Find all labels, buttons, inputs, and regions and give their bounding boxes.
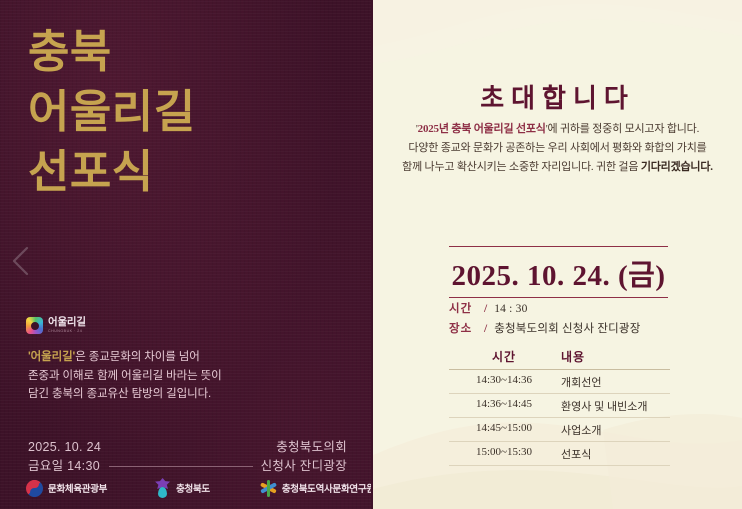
meta-value-time: 14 : 30 xyxy=(494,300,527,320)
schedule-content-2: 환영사 및 내빈소개 xyxy=(559,398,670,414)
poster-description: '어울리길'은 종교문화의 차이를 넘어 존중과 이해로 함께 어울리길 바라는… xyxy=(28,348,222,404)
meta-label-place: 장소 xyxy=(449,320,475,340)
organization-name-1: 문화체육관광부 xyxy=(48,481,107,495)
brand-name: 어울리길 xyxy=(48,317,86,328)
brand-subtitle: CHUNGBUK · 24 xyxy=(48,329,86,333)
organization-institute: 충청북도역사문화연구원 xyxy=(260,480,371,497)
table-row: 15:00~15:30 선포식 xyxy=(449,442,670,466)
invite-event-name: 2025년 충북 어울리길 선포식 xyxy=(418,123,546,135)
meta-label-time: 시간 xyxy=(449,300,475,320)
wave-top-1 xyxy=(373,0,742,46)
schedule-table: 시간 내용 14:30~14:36 개회선언 14:36~14:45 환영사 및… xyxy=(449,348,670,466)
date-rule-bottom xyxy=(449,297,668,298)
invite-line-3-prefix: 함께 나누고 확산시키는 소중한 자리입니다. 귀한 걸음 xyxy=(402,161,641,173)
poster-left-panel: 충북 어울리길 선포식 어울리길 CHUNGBUK · 24 '어울리길'은 종… xyxy=(0,0,371,509)
invite-body-line-1: '2025년 충북 어울리길 선포식'에 귀하를 정중히 모시고자 합니다. xyxy=(387,120,728,139)
star-stroke-1 xyxy=(267,480,271,497)
table-row: 14:30~14:36 개회선언 xyxy=(449,370,670,394)
organization-chungbuk: 충청북도 xyxy=(154,478,210,498)
schedule-header-content: 내용 xyxy=(559,348,670,365)
meta-row-time: 시간 / 14 : 30 xyxy=(449,300,641,320)
taegeuk-icon xyxy=(26,480,43,497)
footer-date-line-1: 2025. 10. 24 xyxy=(28,438,101,457)
table-row: 14:45~15:00 사업소개 xyxy=(449,418,670,442)
eoullilgil-logo-icon xyxy=(26,317,43,334)
schedule-content-1: 개회선언 xyxy=(559,374,670,390)
schedule-time-3: 14:45~15:00 xyxy=(449,422,559,438)
description-line-1: '어울리길'은 종교문화의 차이를 넘어 xyxy=(28,348,222,367)
chevron-left-icon xyxy=(14,248,27,274)
event-poster-slide: 충북 어울리길 선포식 어울리길 CHUNGBUK · 24 '어울리길'은 종… xyxy=(0,0,742,509)
description-line-2: 존중과 이해로 함께 어울리길 바라는 뜻이 xyxy=(28,367,222,386)
title-line-1: 충북 xyxy=(28,22,196,82)
meta-value-place: 충청북도의회 신청사 잔디광장 xyxy=(494,320,640,340)
poster-right-panel: 초대합니다 '2025년 충북 어울리길 선포식'에 귀하를 정중히 모시고자 … xyxy=(371,0,742,509)
description-highlight: '어울리길' xyxy=(28,351,75,363)
flower-drop-shape xyxy=(158,487,167,498)
table-row: 14:36~14:45 환영사 및 내빈소개 xyxy=(449,394,670,418)
poster-footer-info: 2025. 10. 24 금요일 14:30 충청북도의회 신청사 잔디광장 xyxy=(28,438,347,477)
schedule-header-row: 시간 내용 xyxy=(449,348,670,370)
schedule-time-2: 14:36~14:45 xyxy=(449,398,559,414)
meta-separator-place: / xyxy=(484,320,487,340)
schedule-time-1: 14:30~14:36 xyxy=(449,374,559,390)
organization-logos: 문화체육관광부 충청북도 충청북도역사문화연구원 xyxy=(0,478,371,498)
event-meta-block: 시간 / 14 : 30 장소 / 충청북도의회 신청사 잔디광장 xyxy=(449,300,641,340)
meta-separator-time: / xyxy=(484,300,487,320)
description-line-1-rest: 은 종교문화의 차이를 넘어 xyxy=(75,351,200,363)
invite-closing-emphasis: 기다리겠습니다. xyxy=(641,161,713,173)
carousel-prev-button[interactable] xyxy=(8,244,34,278)
brand-text-group: 어울리길 CHUNGBUK · 24 xyxy=(48,317,86,333)
invite-line-1-suffix: '에 귀하를 정중히 모시고자 합니다. xyxy=(546,123,699,135)
star-icon xyxy=(260,480,277,497)
invite-body-line-2: 다양한 종교와 문화가 공존하는 우리 사회에서 평화와 화합의 가치를 xyxy=(387,139,728,158)
footer-date-group: 2025. 10. 24 금요일 14:30 xyxy=(28,438,101,477)
schedule-time-4: 15:00~15:30 xyxy=(449,446,559,462)
schedule-header-time: 시간 xyxy=(449,348,559,365)
wave-top-2 xyxy=(373,0,742,64)
event-date-block: 2025. 10. 24. (금) xyxy=(449,246,668,298)
organization-mcst: 문화체육관광부 xyxy=(26,480,107,497)
schedule-content-3: 사업소개 xyxy=(559,422,670,438)
wave-bottom-2 xyxy=(373,470,742,509)
footer-venue-group: 충청북도의회 신청사 잔디광장 xyxy=(261,438,347,477)
invite-body-line-3: 함께 나누고 확산시키는 소중한 자리입니다. 귀한 걸음 기다리겠습니다. xyxy=(387,158,728,177)
meta-row-place: 장소 / 충청북도의회 신청사 잔디광장 xyxy=(449,320,641,340)
title-line-3: 선포식 xyxy=(28,142,196,202)
event-date: 2025. 10. 24. (금) xyxy=(449,247,668,297)
organization-name-2: 충청북도 xyxy=(176,481,210,495)
eoullilgil-brand-logo: 어울리길 CHUNGBUK · 24 xyxy=(26,317,86,334)
footer-venue-line-2: 신청사 잔디광장 xyxy=(261,457,347,476)
invite-body-text: '2025년 충북 어울리길 선포식'에 귀하를 정중히 모시고자 합니다. 다… xyxy=(387,120,728,177)
schedule-content-4: 선포식 xyxy=(559,446,670,462)
poster-title: 충북 어울리길 선포식 xyxy=(28,22,196,202)
footer-date-line-2: 금요일 14:30 xyxy=(28,457,100,476)
footer-venue-line-1: 충청북도의회 xyxy=(276,438,347,457)
description-line-3: 담긴 충북의 종교유산 탐방의 길입니다. xyxy=(28,385,222,404)
organization-name-3: 충청북도역사문화연구원 xyxy=(282,481,371,495)
footer-divider xyxy=(109,466,253,467)
invite-heading: 초대합니다 xyxy=(373,78,742,115)
flower-icon xyxy=(154,478,171,498)
title-line-2: 어울리길 xyxy=(28,82,196,142)
